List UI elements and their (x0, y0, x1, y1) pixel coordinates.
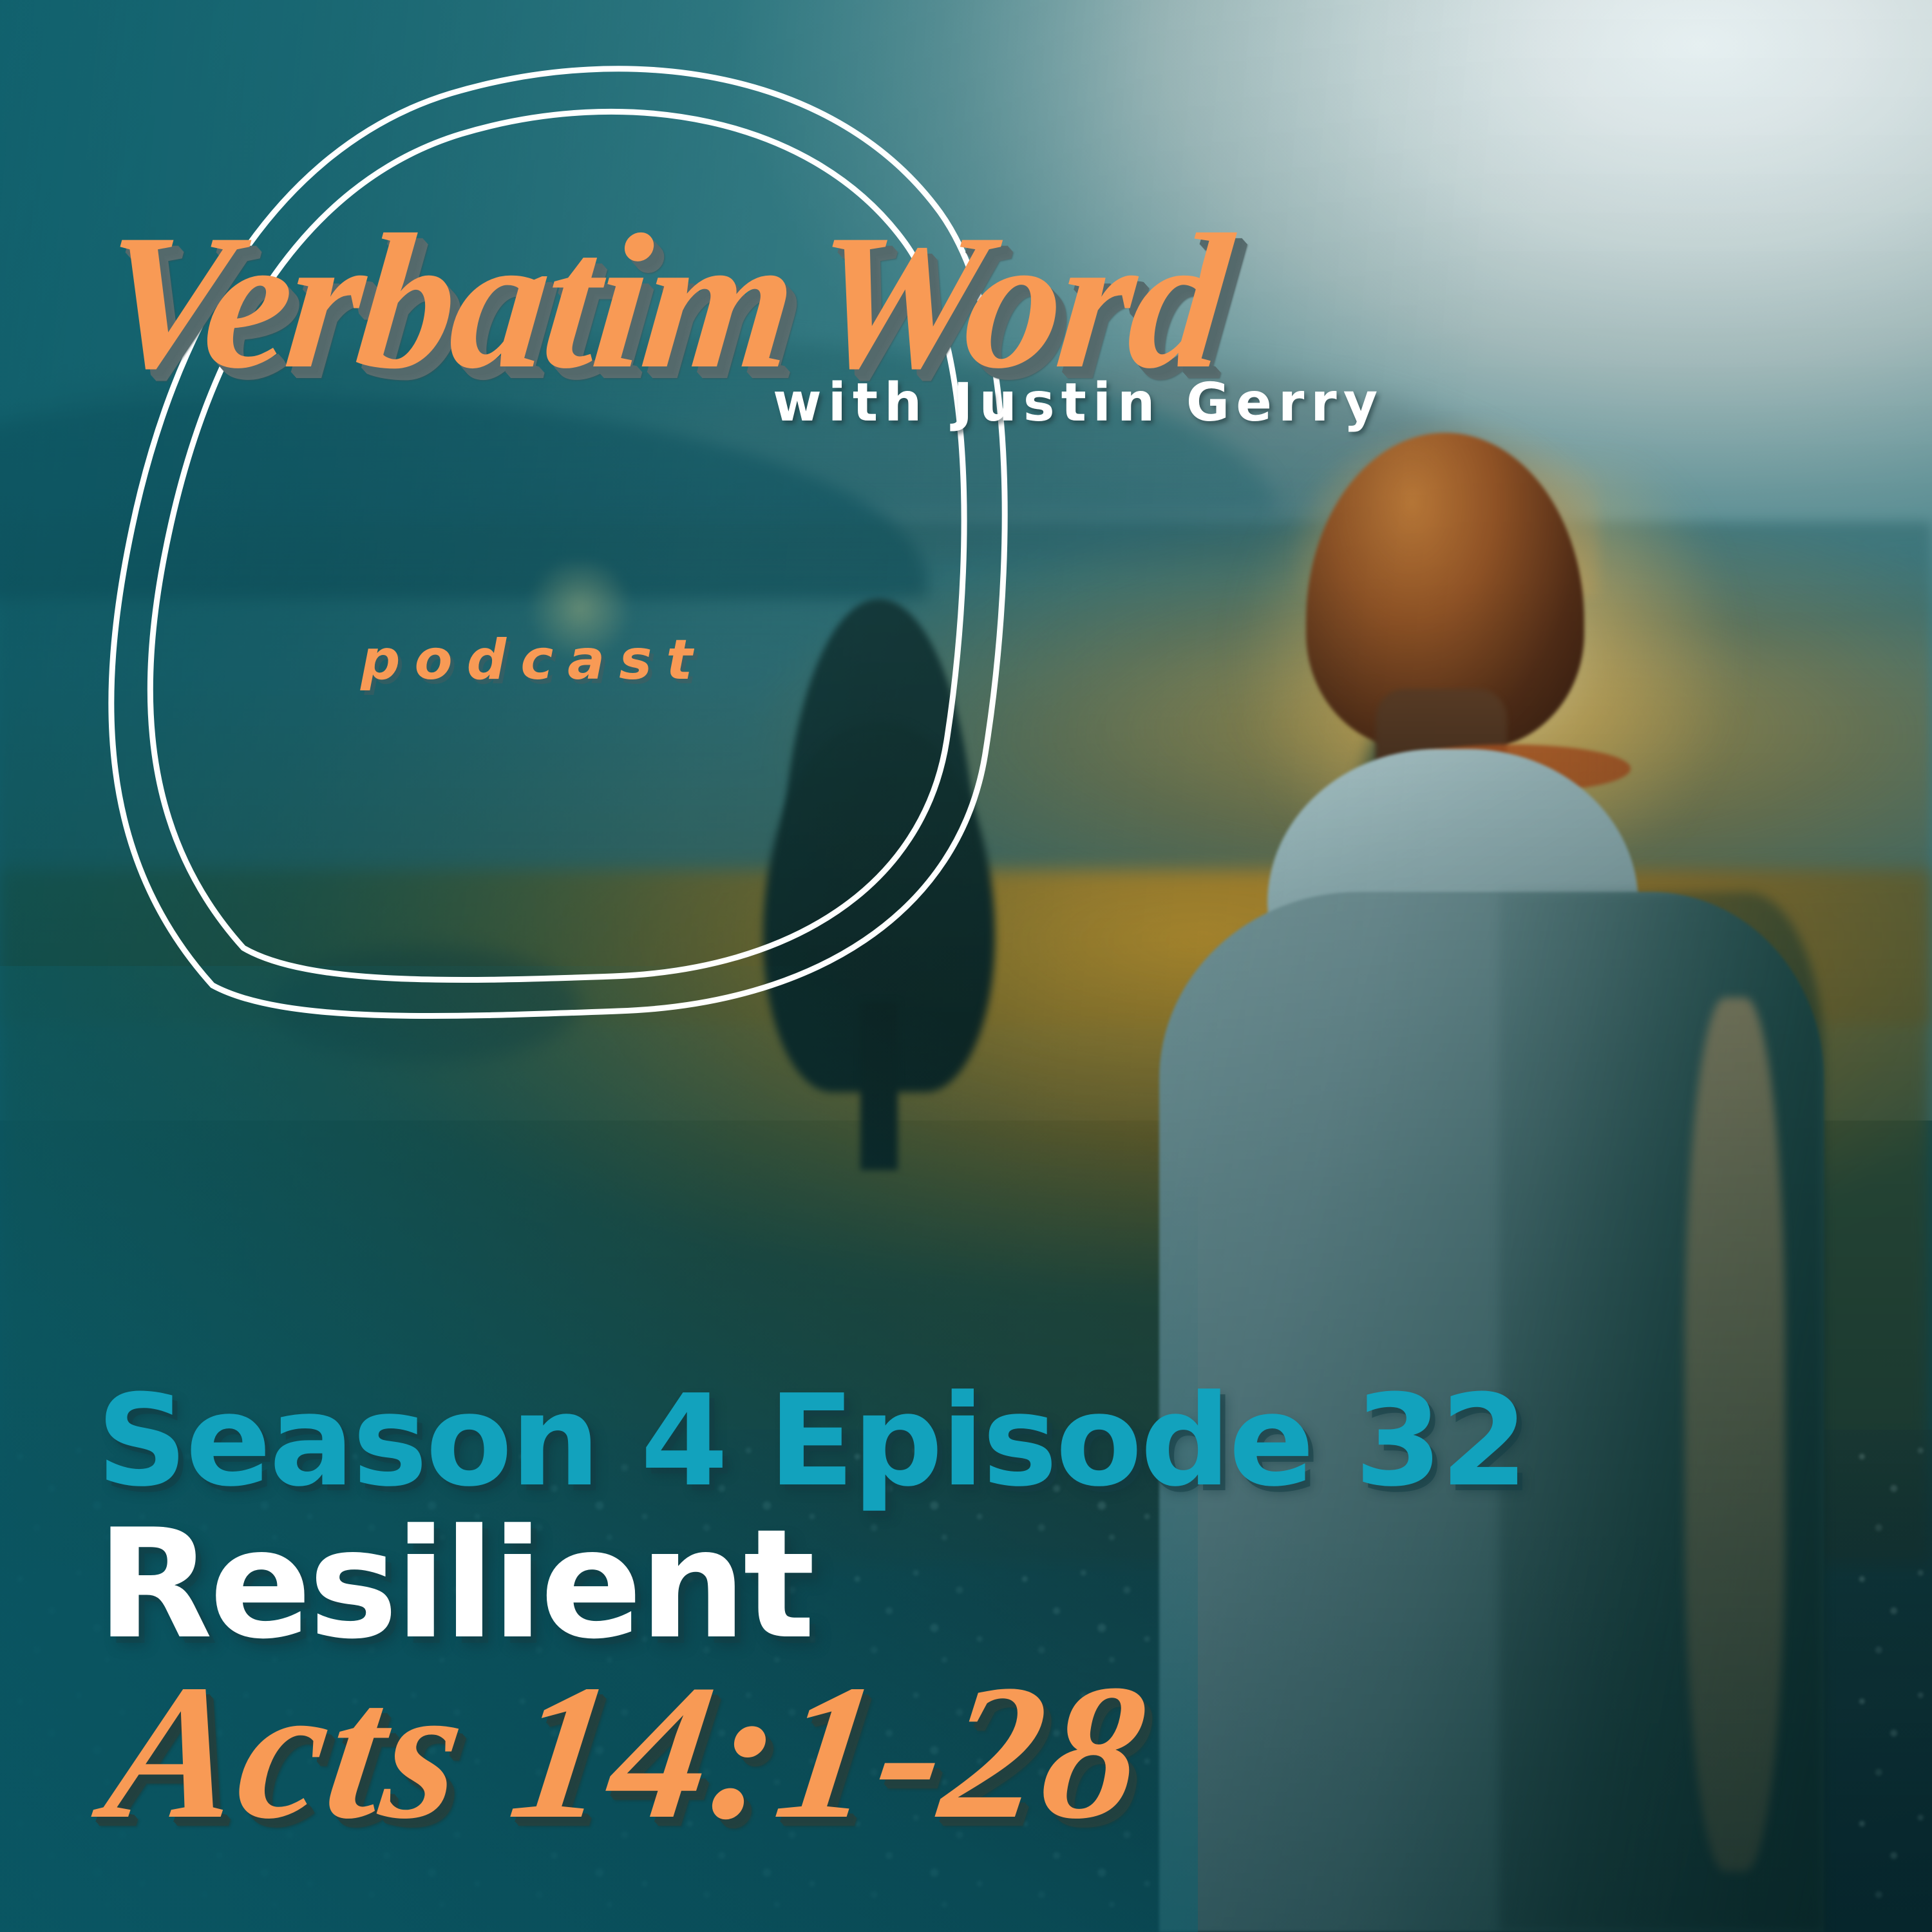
podcast-label: podcast (361, 628, 707, 692)
episode-title: Resilient (97, 1510, 1861, 1660)
logo-lockup: VerbatimWord with Justin Gerry (103, 213, 1584, 433)
brand-word-verbatim: Verbatim (92, 194, 803, 408)
episode-info-block: Season 4 Episode 32 Resilient Acts 14:1-… (97, 1378, 1861, 1848)
scripture-reference: Acts 14:1-28 (97, 1655, 1888, 1848)
brand-wordmark: VerbatimWord (93, 213, 1593, 390)
brand-word-word: Word (802, 194, 1235, 408)
season-episode-label: Season 4 Episode 32 (97, 1378, 1861, 1504)
podcast-cover-art: VerbatimWord with Justin Gerry podcast S… (0, 0, 1932, 1932)
